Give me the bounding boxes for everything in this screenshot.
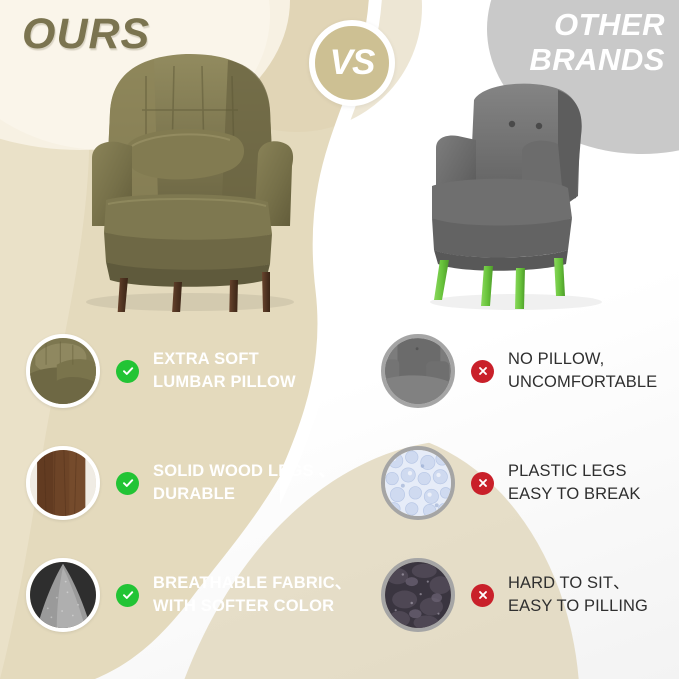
ours-feature-line: DURABLE: [153, 483, 335, 506]
ours-feature-line: LUMBAR PILLOW: [153, 371, 296, 394]
vs-badge: VS: [309, 20, 395, 106]
breathable-fabric-closeup-thumbnail: [26, 558, 100, 632]
other-feature-row: PLASTIC LEGS EASY TO BREAK: [381, 446, 640, 520]
other-brands-armchair-image: [408, 78, 618, 310]
other-feature-line: UNCOMFORTABLE: [508, 371, 657, 394]
ours-feature-text: SOLID WOOD LEGS 、 DURABLE: [153, 460, 335, 506]
ours-feature-row: SOLID WOOD LEGS 、 DURABLE: [26, 446, 335, 520]
pilled-fabric-closeup-thumbnail: [381, 558, 455, 632]
other-brands-title: OTHER BRANDS: [529, 8, 665, 77]
other-brands-title-line1: OTHER: [529, 8, 665, 43]
cross-icon: [471, 360, 494, 383]
check-icon: [116, 584, 139, 607]
cross-icon: [471, 584, 494, 607]
ours-feature-row: BREATHABLE FABRIC、 WITH SOFTER COLOR: [26, 558, 352, 632]
other-brands-title-line2: BRANDS: [529, 43, 665, 78]
ours-feature-line: EXTRA SOFT: [153, 348, 296, 371]
lumbar-pillow-closeup-thumbnail: [26, 334, 100, 408]
other-feature-line: NO PILLOW,: [508, 348, 657, 371]
ours-armchair-image: [62, 50, 312, 312]
other-feature-line: EASY TO PILLING: [508, 595, 648, 618]
ours-title: OURS: [22, 10, 150, 59]
other-feature-row: HARD TO SIT、 EASY TO PILLING: [381, 558, 648, 632]
no-pillow-chair-closeup-thumbnail: [381, 334, 455, 408]
ours-feature-line: BREATHABLE FABRIC、: [153, 572, 352, 595]
ours-feature-row: EXTRA SOFT LUMBAR PILLOW: [26, 334, 296, 408]
solid-wood-leg-closeup-thumbnail: [26, 446, 100, 520]
other-feature-line: EASY TO BREAK: [508, 483, 640, 506]
comparison-infographic: OURS OTHER BRANDS VS: [0, 0, 679, 679]
other-feature-text: NO PILLOW, UNCOMFORTABLE: [508, 348, 657, 394]
plastic-pellets-closeup-thumbnail: [381, 446, 455, 520]
other-feature-line: HARD TO SIT、: [508, 572, 648, 595]
vs-label: VS: [330, 43, 375, 83]
other-feature-text: HARD TO SIT、 EASY TO PILLING: [508, 572, 648, 618]
check-icon: [116, 360, 139, 383]
cross-icon: [471, 472, 494, 495]
ours-feature-line: SOLID WOOD LEGS 、: [153, 460, 335, 483]
other-feature-line: PLASTIC LEGS: [508, 460, 640, 483]
ours-feature-text: EXTRA SOFT LUMBAR PILLOW: [153, 348, 296, 394]
ours-feature-line: WITH SOFTER COLOR: [153, 595, 352, 618]
ours-feature-text: BREATHABLE FABRIC、 WITH SOFTER COLOR: [153, 572, 352, 618]
other-feature-row: NO PILLOW, UNCOMFORTABLE: [381, 334, 657, 408]
other-feature-text: PLASTIC LEGS EASY TO BREAK: [508, 460, 640, 506]
check-icon: [116, 472, 139, 495]
